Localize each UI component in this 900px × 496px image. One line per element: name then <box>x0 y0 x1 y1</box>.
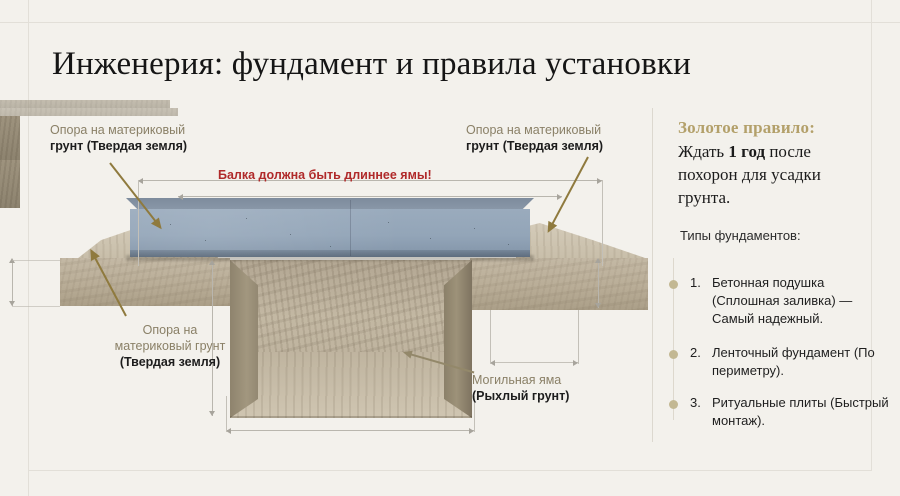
ground-right-shadow-strip <box>0 108 178 116</box>
dimension-arrow-right <box>557 194 562 200</box>
label-grave-pit: Могильная яма (Рыхлый грунт) <box>472 372 652 404</box>
sidebar-divider <box>652 108 653 442</box>
sidebar: Золотое правило: Ждать 1 год после похор… <box>652 100 900 460</box>
list-item[interactable]: 1. Бетонная подушка (Сплошная заливка) —… <box>690 274 895 328</box>
dimension-arrow-down <box>209 411 215 416</box>
beam-bottom-shade <box>130 250 530 257</box>
label-top-right-support: Опора на материковый грунт (Твердая земл… <box>466 122 661 154</box>
types-heading: Типы фундаментов: <box>680 228 801 243</box>
dimension-pit-width <box>226 430 474 431</box>
ground-left-block <box>60 258 230 306</box>
list-item[interactable]: 2. Ленточный фундамент (По периметру). <box>690 344 895 380</box>
timeline-dot <box>669 400 678 409</box>
pit-bottom-edge <box>230 416 472 418</box>
slide-root: Инженерия: фундамент и правила установки <box>0 0 900 496</box>
dimension-ground-thickness-right <box>598 260 599 308</box>
ground-right-cut-face <box>0 160 20 208</box>
list-item-text: Ленточный фундамент (По периметру). <box>712 344 895 380</box>
golden-rule-emphasis: 1 год <box>728 142 765 161</box>
label-bottom-left-support: Опора на материковый грунт (Твердая земл… <box>60 322 280 370</box>
list-item-number: 3. <box>690 394 701 412</box>
dimension-extension-line <box>602 180 603 266</box>
dimension-support-span <box>178 196 562 197</box>
dimension-extension-line <box>138 180 139 266</box>
beam-speck <box>246 218 247 219</box>
dimension-arrow-up <box>595 258 601 263</box>
ground-left-shadow-strip <box>0 100 170 108</box>
golden-rule-text-a: Ждать <box>678 142 728 161</box>
dimension-right-ground-a <box>490 362 578 363</box>
beam-speck <box>205 240 206 241</box>
timeline-dot <box>669 350 678 359</box>
dimension-ground-thickness-left <box>12 260 13 306</box>
beam-speck <box>388 222 389 223</box>
beam-vertical-seam <box>350 200 351 256</box>
list-item-number: 2. <box>690 344 701 362</box>
dimension-extension-line <box>578 310 579 364</box>
list-item[interactable]: 3. Ритуальные плиты (Быстрый монтаж). <box>690 394 895 430</box>
warning-text: Балка должна быть длиннее ямы! <box>218 168 432 182</box>
dimension-extension-line <box>12 306 60 307</box>
foundation-diagram: Опора на материковый грунт (Твердая земл… <box>0 100 652 460</box>
pointer-top-right <box>548 157 589 232</box>
beam-speck <box>430 238 431 239</box>
beam-speck <box>170 224 171 225</box>
pit-right-wall <box>444 260 472 418</box>
list-item-text: Бетонная подушка (Сплошная заливка) — Са… <box>712 274 895 328</box>
dimension-arrow-up <box>209 260 215 265</box>
dimension-extension-line <box>12 260 60 261</box>
list-item-text: Ритуальные плиты (Быстрый монтаж). <box>712 394 895 430</box>
beam-speck <box>290 234 291 235</box>
frame-line-top <box>0 22 900 23</box>
dimension-arrow-left <box>178 194 183 200</box>
beam-speck <box>508 244 509 245</box>
ground-right-block <box>470 258 648 310</box>
frame-line-bottom <box>28 470 872 471</box>
dimension-extension-line <box>490 310 491 364</box>
golden-rule-body: Ждать 1 год после похорон для усадки гру… <box>678 140 873 209</box>
page-title: Инженерия: фундамент и правила установки <box>52 44 691 84</box>
list-item-number: 1. <box>690 274 701 292</box>
timeline-dot <box>669 280 678 289</box>
beam-speck <box>474 228 475 229</box>
beam-speck <box>330 246 331 247</box>
ground-left-cut-face <box>0 116 20 160</box>
golden-rule-heading: Золотое правило: <box>678 118 815 138</box>
label-top-left-support: Опора на материковый грунт (Твердая земл… <box>50 122 240 154</box>
dimension-arrow-down <box>595 303 601 308</box>
dimension-extension-line <box>226 396 227 432</box>
